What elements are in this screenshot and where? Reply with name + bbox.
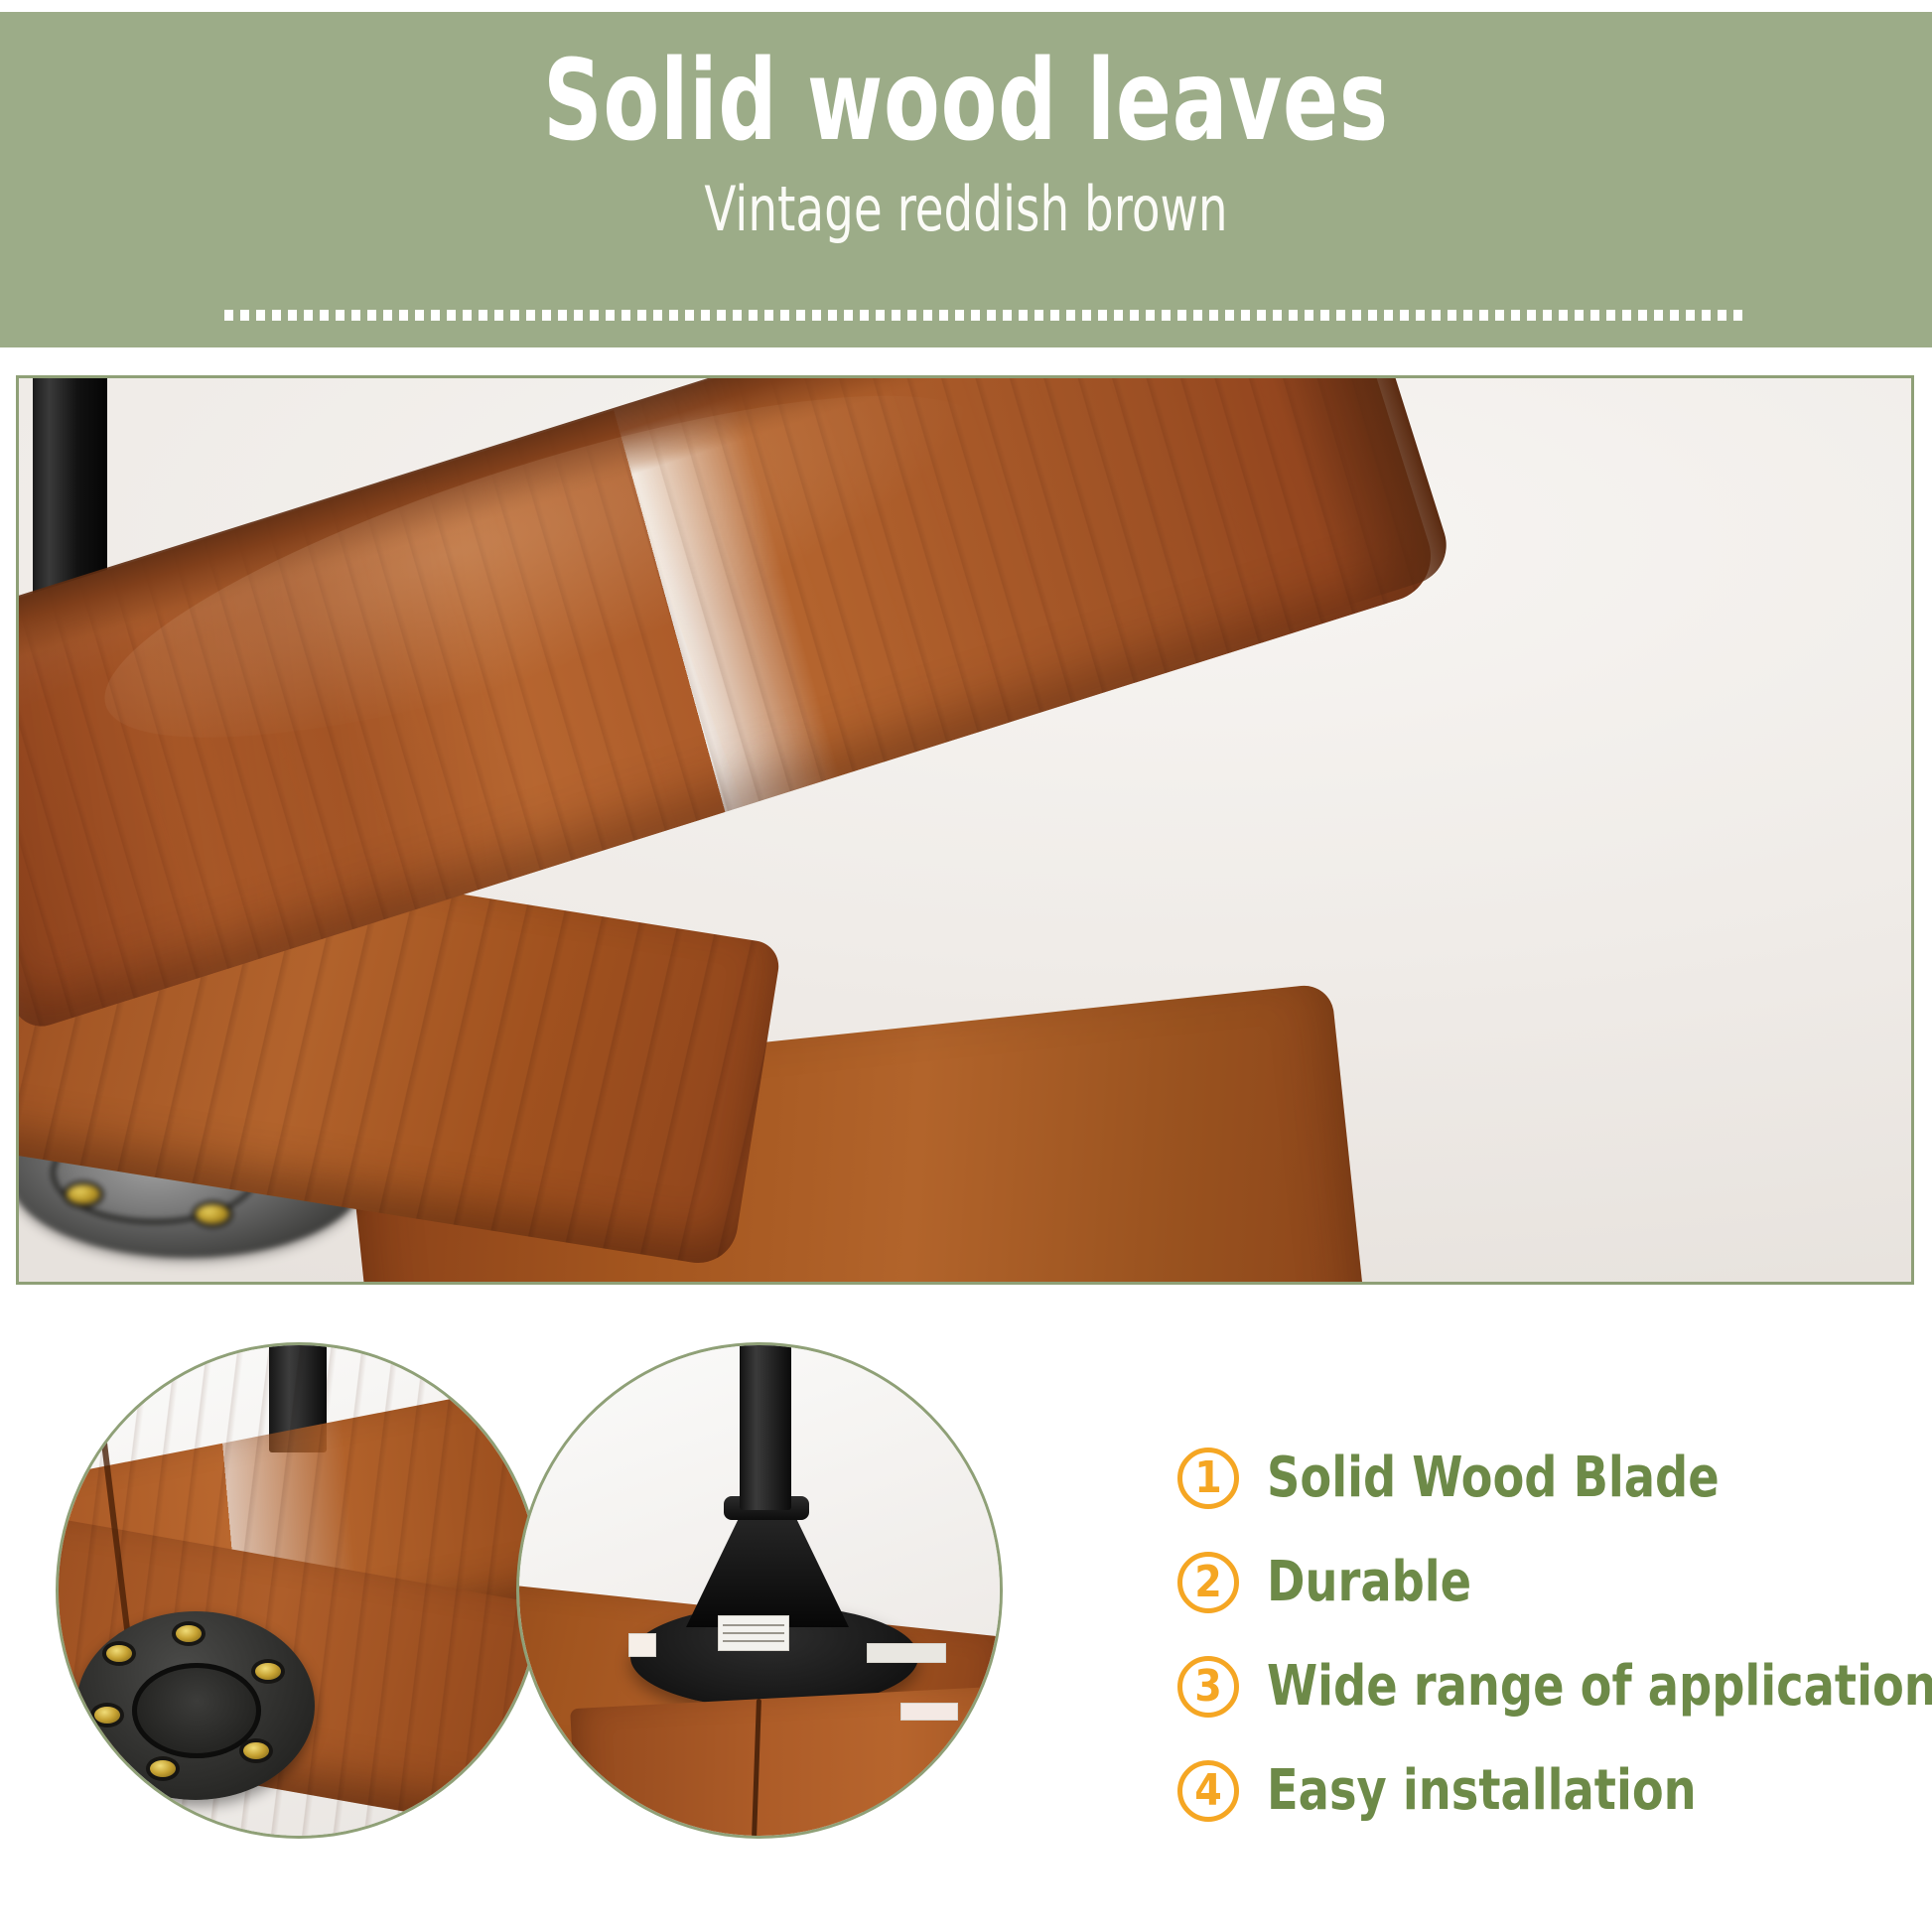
feature-item-2: 2 Durable (1177, 1530, 1932, 1634)
screw-icon (243, 1742, 269, 1759)
feature-number-badge: 4 (1177, 1760, 1239, 1822)
product-label (867, 1643, 946, 1663)
page-subtitle: Vintage reddish brown (155, 179, 1778, 240)
screw-icon (150, 1760, 176, 1777)
feature-label: Easy installation (1267, 1763, 1697, 1819)
feature-item-3: 3 Wide range of applications (1177, 1634, 1932, 1738)
screw-icon (67, 1184, 100, 1204)
feature-number-badge: 3 (1177, 1656, 1239, 1718)
dashed-divider (224, 310, 1745, 321)
inset-motor-housing-detail (516, 1342, 1003, 1839)
feature-list: 1 Solid Wood Blade 2 Durable 3 Wide rang… (1177, 1426, 1932, 1843)
downrod (740, 1342, 791, 1510)
product-label (718, 1615, 789, 1651)
page-title: Solid wood leaves (174, 46, 1758, 157)
feature-label: Wide range of applications (1267, 1659, 1932, 1715)
feature-item-1: 1 Solid Wood Blade (1177, 1426, 1932, 1530)
hub-plate (76, 1611, 315, 1800)
screw-icon (255, 1663, 281, 1680)
feature-label: Solid Wood Blade (1267, 1450, 1720, 1506)
hub-plate-inner (132, 1663, 261, 1758)
screw-icon (196, 1204, 229, 1224)
screw-icon (106, 1645, 132, 1662)
header-banner: Solid wood leaves Vintage reddish brown (0, 12, 1932, 347)
inset-blade-hub-detail (56, 1342, 542, 1839)
feature-number-badge: 1 (1177, 1448, 1239, 1509)
screw-icon (94, 1707, 120, 1724)
feature-item-4: 4 Easy installation (1177, 1738, 1932, 1843)
product-label (900, 1703, 958, 1721)
screw-icon (176, 1625, 202, 1642)
hero-product-image (16, 375, 1914, 1285)
feature-label: Durable (1267, 1555, 1471, 1610)
feature-number-badge: 2 (1177, 1552, 1239, 1613)
product-label (628, 1633, 656, 1657)
